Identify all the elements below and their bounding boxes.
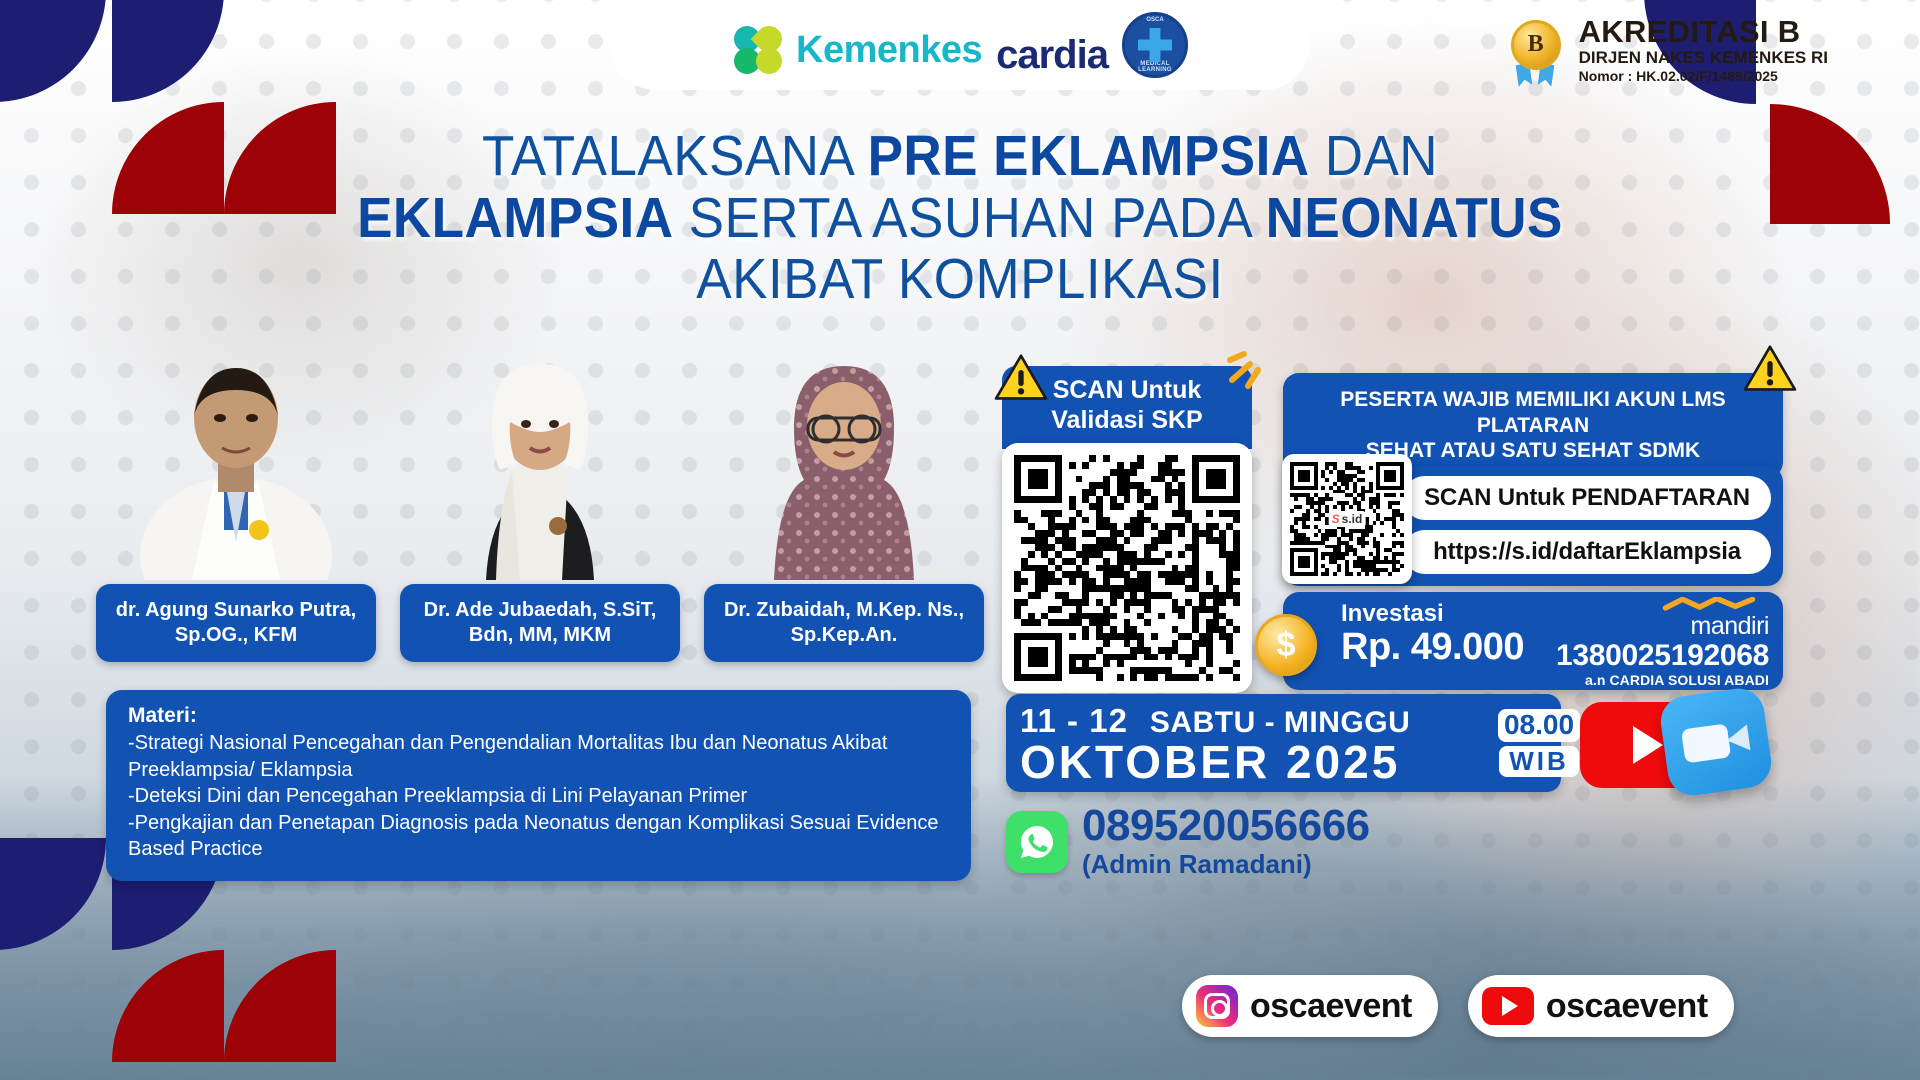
skp-qr-code[interactable] bbox=[1014, 455, 1240, 681]
registration-url[interactable]: https://s.id/daftarEklampsia bbox=[1403, 530, 1771, 574]
lms-notice-line-1: PESERTA WAJIB MEMILIKI AKUN LMS PLATARAN bbox=[1309, 387, 1757, 438]
materi-item: -Deteksi Dini dan Pencegahan Preeklampsi… bbox=[128, 783, 949, 810]
materi-heading: Materi: bbox=[128, 704, 949, 728]
speaker-photo bbox=[400, 330, 680, 580]
speaker-name-plate: Dr. Zubaidah, M.Kep. Ns., Sp.Kep.An. bbox=[704, 584, 984, 662]
schedule-box: 11 - 12 SABTU - MINGGU OKTOBER 2025 08.0… bbox=[1006, 694, 1561, 792]
event-title: TATALAKSANA PRE EKLAMPSIA DAN EKLAMPSIA … bbox=[0, 126, 1920, 311]
schedule-time: 08.00 bbox=[1498, 709, 1580, 741]
title-part-tatalaksana: TATALAKSANA bbox=[482, 124, 868, 188]
logo-bar: Kemenkes cardia OSCA MEDICAL LEARNING bbox=[610, 0, 1310, 90]
materi-item: -Strategi Nasional Pencegahan dan Pengen… bbox=[128, 730, 949, 783]
speaker-card: Dr. Ade Jubaedah, S.SiT, Bdn, MM, MKM bbox=[400, 330, 680, 670]
event-title-line-2: EKLAMPSIA SERTA ASUHAN PADA NEONATUS bbox=[67, 188, 1853, 250]
kemenkes-wordmark: Kemenkes bbox=[796, 29, 982, 72]
schedule-timezone: WIB bbox=[1499, 746, 1579, 777]
cardia-logo: cardia bbox=[996, 33, 1108, 78]
event-title-line-1: TATALAKSANA PRE EKLAMPSIA DAN bbox=[67, 126, 1853, 188]
title-part-eklampsia: EKLAMPSIA bbox=[357, 186, 673, 250]
registration-scan-label: SCAN Untuk PENDAFTARAN bbox=[1403, 476, 1771, 520]
medal-icon: B bbox=[1505, 20, 1567, 82]
title-part-dan: DAN bbox=[1310, 124, 1439, 188]
osca-seal-bottom-text: MEDICAL LEARNING bbox=[1125, 61, 1185, 73]
kemenkes-logo: Kemenkes bbox=[732, 22, 982, 78]
osca-seal-logo: OSCA MEDICAL LEARNING bbox=[1122, 12, 1188, 78]
investment-amount: Rp. 49.000 bbox=[1341, 626, 1524, 669]
investment-box: $ Investasi Rp. 49.000 mandiri 138002519… bbox=[1283, 592, 1783, 690]
skp-validation-block: SCAN Untuk Validasi SKP bbox=[1002, 366, 1252, 693]
mandiri-wave-icon bbox=[1649, 597, 1769, 611]
instagram-handle: oscaevent bbox=[1250, 987, 1412, 1026]
materi-item: -Pengkajian dan Penetapan Diagnosis pada… bbox=[128, 810, 949, 863]
skp-qr-wrapper bbox=[1002, 443, 1252, 693]
accreditation-number: Nomor : HK.02.02/F/1489/2025 bbox=[1579, 68, 1828, 86]
contact-admin: (Admin Ramadani) bbox=[1082, 848, 1370, 881]
speaker-card: dr. Agung Sunarko Putra, Sp.OG., KFM bbox=[96, 330, 376, 670]
sid-swirl-icon: S bbox=[1332, 512, 1340, 526]
whatsapp-contact[interactable]: 089520056666 (Admin Ramadani) bbox=[1006, 804, 1370, 881]
bank-name: mandiri bbox=[1556, 614, 1769, 639]
speaker-card: Dr. Zubaidah, M.Kep. Ns., Sp.Kep.An. bbox=[704, 330, 984, 670]
title-part-serta-asuhan: SERTA ASUHAN PADA bbox=[673, 186, 1265, 250]
sid-badge: S s.id bbox=[1329, 511, 1366, 527]
skp-caption-line-2: Validasi SKP bbox=[1008, 406, 1246, 436]
instagram-icon bbox=[1196, 985, 1238, 1027]
schedule-time-badge: 08.00 WIB bbox=[1495, 700, 1583, 786]
accreditation-badge: B AKREDITASI B DIRJEN NAKES KEMENKES RI … bbox=[1505, 16, 1828, 86]
materi-box: Materi: -Strategi Nasional Pencegahan da… bbox=[106, 690, 971, 881]
accreditation-authority: DIRJEN NAKES KEMENKES RI bbox=[1579, 47, 1828, 68]
corner-decoration-bottom-left bbox=[0, 880, 240, 1080]
cardia-wordmark: cardia bbox=[996, 33, 1108, 78]
event-title-line-3: AKIBAT KOMPLIKASI bbox=[67, 249, 1853, 311]
speaker-photo bbox=[704, 330, 984, 580]
warning-triangle-icon bbox=[994, 354, 1048, 402]
whatsapp-icon bbox=[1006, 811, 1068, 873]
youtube-icon bbox=[1482, 987, 1534, 1025]
osca-seal-top-text: OSCA bbox=[1125, 17, 1185, 23]
schedule-dates: 11 - 12 bbox=[1020, 702, 1128, 740]
warning-triangle-icon bbox=[1743, 345, 1797, 393]
kemenkes-flower-icon bbox=[732, 22, 788, 78]
title-part-neonatus: NEONATUS bbox=[1266, 186, 1563, 250]
medal-grade-letter: B bbox=[1511, 20, 1561, 70]
social-links: oscaevent oscaevent bbox=[1182, 975, 1734, 1037]
bank-account-number: 1380025192068 bbox=[1556, 639, 1769, 672]
media-icons bbox=[1580, 692, 1790, 796]
youtube-chip[interactable]: oscaevent bbox=[1468, 975, 1734, 1037]
coin-icon: $ bbox=[1255, 614, 1317, 676]
speaker-name-plate: dr. Agung Sunarko Putra, Sp.OG., KFM bbox=[96, 584, 376, 662]
video-camera-icon bbox=[1658, 685, 1775, 799]
speaker-photo bbox=[96, 330, 376, 580]
speaker-name-plate: Dr. Ade Jubaedah, S.SiT, Bdn, MM, MKM bbox=[400, 584, 680, 662]
registration-qr-wrapper[interactable]: S s.id bbox=[1282, 454, 1412, 584]
bank-details: mandiri 1380025192068 a.n CARDIA SOLUSI … bbox=[1556, 596, 1769, 688]
schedule-month-year: OKTOBER 2025 bbox=[1020, 738, 1547, 786]
contact-phone: 089520056666 bbox=[1082, 804, 1370, 848]
investment-label: Investasi bbox=[1341, 600, 1444, 628]
speaker-list: dr. Agung Sunarko Putra, Sp.OG., KFM bbox=[96, 330, 996, 670]
instagram-chip[interactable]: oscaevent bbox=[1182, 975, 1438, 1037]
schedule-days: SABTU - MINGGU bbox=[1150, 706, 1410, 740]
sparkle-icon bbox=[1222, 344, 1278, 390]
accreditation-title: AKREDITASI B bbox=[1579, 16, 1828, 47]
youtube-handle: oscaevent bbox=[1546, 987, 1708, 1026]
bank-account-holder: a.n CARDIA SOLUSI ABADI bbox=[1556, 672, 1769, 688]
sid-badge-label: s.id bbox=[1342, 512, 1363, 526]
poster-canvas: Kemenkes cardia OSCA MEDICAL LEARNING B … bbox=[0, 0, 1920, 1080]
title-part-pre-eklampsia: PRE EKLAMPSIA bbox=[868, 124, 1310, 188]
